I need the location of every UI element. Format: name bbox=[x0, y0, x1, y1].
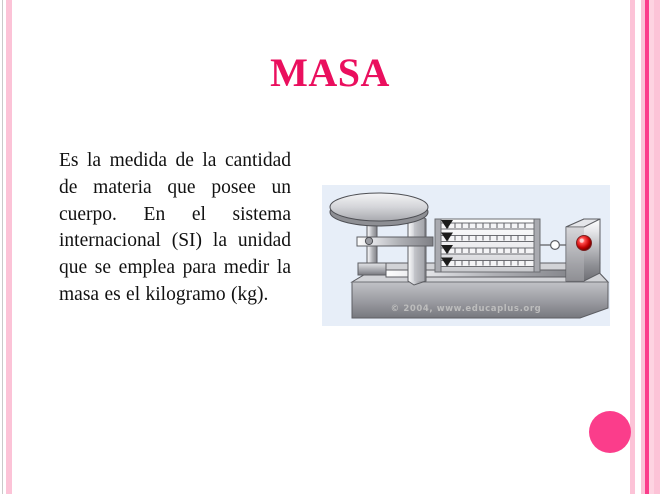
pink-circle-decoration bbox=[589, 411, 631, 453]
pointer-knob bbox=[540, 241, 567, 250]
indicator-light bbox=[577, 236, 592, 251]
watermark-text: © 2004, www.educaplus.org bbox=[322, 304, 610, 314]
beam-post bbox=[408, 215, 426, 285]
indicator-housing bbox=[566, 219, 600, 281]
beam-arm bbox=[357, 237, 433, 246]
slide-canvas: MASA Es la medida de la cantidad de mate… bbox=[0, 0, 660, 494]
weighing-pan bbox=[330, 193, 428, 226]
balance-illustration: © 2004, www.educaplus.org bbox=[322, 185, 610, 326]
body-paragraph: Es la medida de la cantidad de materia q… bbox=[59, 148, 291, 309]
pivot-pin bbox=[365, 237, 372, 244]
page-title: MASA bbox=[0, 50, 660, 96]
beam-scale-rods bbox=[435, 219, 540, 272]
